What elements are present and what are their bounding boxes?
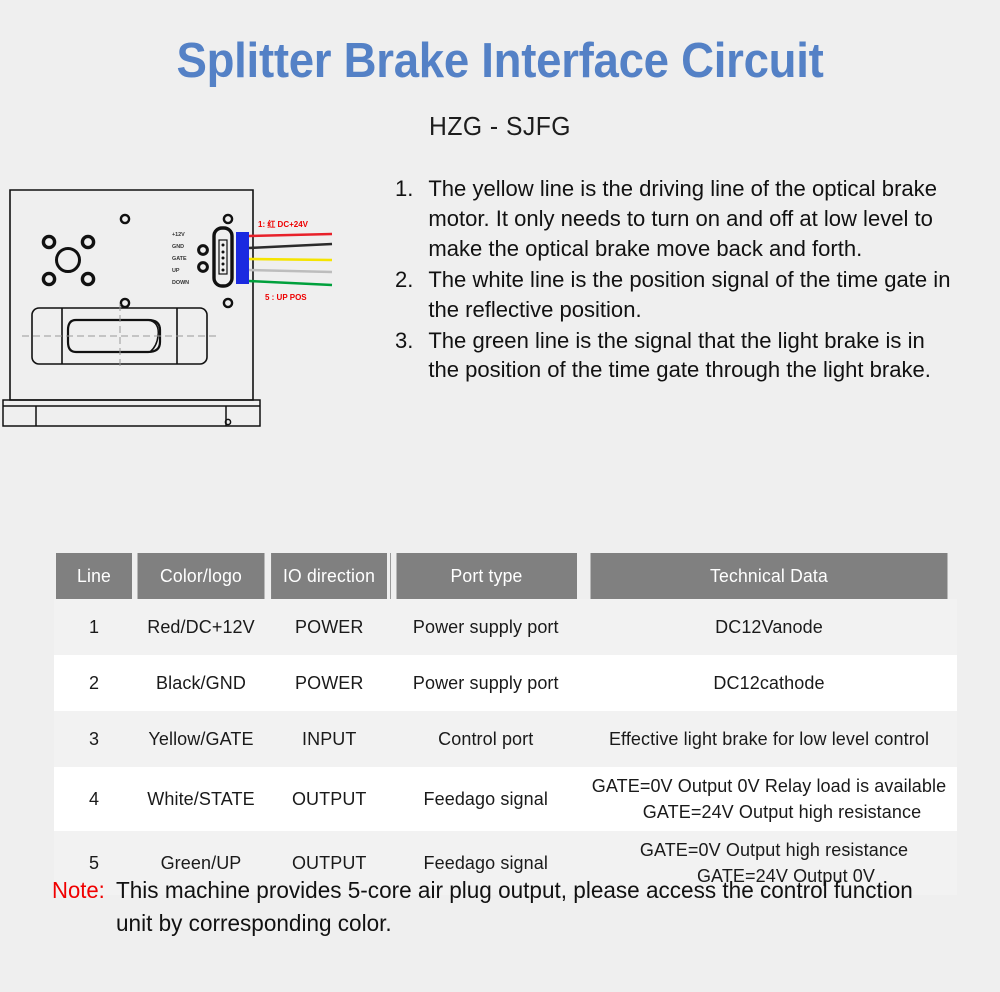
svg-text:DOWN: DOWN xyxy=(172,280,189,286)
svg-text:+12V: +12V xyxy=(172,232,185,238)
cell-io: POWER xyxy=(268,599,391,655)
cell-color: White/STATE xyxy=(134,767,268,831)
wire-red xyxy=(249,234,332,236)
machine-body-outline xyxy=(10,190,253,400)
cell-line: 1 xyxy=(54,599,134,655)
cell-io: OUTPUT xyxy=(268,767,391,831)
instruction-item: 2.The white line is the position signal … xyxy=(395,265,954,325)
cell-color: Black/GND xyxy=(134,655,268,711)
instruction-number: 2. xyxy=(395,265,424,295)
svg-text:UP: UP xyxy=(172,268,180,274)
wire-label-bottom: 5 : UP POS xyxy=(265,293,307,302)
instruction-item: 3.The green line is the signal that the … xyxy=(395,326,954,386)
machine-diagram: +12V GND GATE UP DOWN xyxy=(0,172,395,472)
wire-green xyxy=(249,281,332,285)
connector-pin-labels: +12V GND GATE UP DOWN xyxy=(172,232,189,286)
column-header-color: Color/logo xyxy=(137,553,264,599)
table-row: 4 White/STATE OUTPUT Feedago signal GATE… xyxy=(54,767,957,831)
wire-bundle xyxy=(249,234,332,285)
note-label: Note: xyxy=(52,874,113,907)
upper-section: +12V GND GATE UP DOWN xyxy=(0,142,1000,462)
cell-io: POWER xyxy=(268,655,391,711)
technical-line: DC12Vanode xyxy=(585,614,953,640)
cell-color: Yellow/GATE xyxy=(134,711,268,767)
instruction-text: The white line is the position signal of… xyxy=(428,267,950,322)
instruction-number: 3. xyxy=(395,326,424,356)
cell-port: Control port xyxy=(391,711,582,767)
technical-line: DC12cathode xyxy=(585,670,953,696)
instruction-text: The green line is the signal that the li… xyxy=(428,328,931,383)
cell-port: Power supply port xyxy=(391,655,582,711)
table-row: 2 Black/GND POWER Power supply port DC12… xyxy=(54,655,957,711)
column-header-line: Line xyxy=(56,553,132,599)
technical-line: Effective light brake for low level cont… xyxy=(585,726,953,752)
table-header: Line Color/logo IO direction Port type T… xyxy=(54,553,957,599)
note-block: Note: This machine provides 5-core air p… xyxy=(52,874,952,939)
cell-port: Feedago signal xyxy=(391,767,582,831)
instructions-list: 1.The yellow line is the driving line of… xyxy=(395,172,1000,386)
table-row: 3 Yellow/GATE INPUT Control port Effecti… xyxy=(54,711,957,767)
connector-plug-block xyxy=(236,232,249,284)
table-body: 1 Red/DC+12V POWER Power supply port DC1… xyxy=(54,599,957,895)
svg-text:GND: GND xyxy=(172,244,184,250)
cell-io: INPUT xyxy=(268,711,391,767)
technical-line: GATE=0V Output high resistance xyxy=(585,837,953,863)
machine-base xyxy=(3,400,260,426)
column-header-technical: Technical Data xyxy=(590,553,947,599)
cell-technical: GATE=0V Output 0V Relay load is availabl… xyxy=(581,767,957,831)
cell-port: Power supply port xyxy=(391,599,582,655)
pinout-table-container: Line Color/logo IO direction Port type T… xyxy=(54,553,946,895)
instruction-item: 1.The yellow line is the driving line of… xyxy=(395,174,954,264)
page-subtitle: HZG - SJFG xyxy=(25,89,975,142)
cell-technical: Effective light brake for low level cont… xyxy=(581,711,957,767)
column-header-port: Port type xyxy=(395,553,576,599)
cell-line: 4 xyxy=(54,767,134,831)
cell-technical: DC12Vanode xyxy=(581,599,957,655)
machine-drawing-svg: +12V GND GATE UP DOWN xyxy=(0,172,395,472)
centerlines xyxy=(22,304,216,368)
pinout-table: Line Color/logo IO direction Port type T… xyxy=(54,553,957,895)
mounting-holes-mid xyxy=(121,299,232,307)
instruction-number: 1. xyxy=(395,174,424,204)
instruction-text: The yellow line is the driving line of t… xyxy=(428,176,937,261)
connector-side-screws xyxy=(199,245,208,271)
bolt-circle-pattern xyxy=(43,236,93,284)
cell-line: 2 xyxy=(54,655,134,711)
table-header-row: Line Color/logo IO direction Port type T… xyxy=(54,553,957,599)
technical-line: GATE=24V Output high resistance xyxy=(585,799,953,825)
cell-technical: DC12cathode xyxy=(581,655,957,711)
cell-color: Red/DC+12V xyxy=(134,599,268,655)
svg-text:GATE: GATE xyxy=(172,256,187,262)
technical-line: GATE=0V Output 0V Relay load is availabl… xyxy=(585,773,953,799)
cell-line: 3 xyxy=(54,711,134,767)
wire-white xyxy=(249,270,332,272)
table-row: 1 Red/DC+12V POWER Power supply port DC1… xyxy=(54,599,957,655)
wire-label-top: 1: 红 DC+24V xyxy=(258,219,309,229)
connector-housing xyxy=(214,228,232,286)
page-title: Splitter Brake Interface Circuit xyxy=(35,0,965,89)
column-header-io: IO direction xyxy=(271,553,387,599)
note-text: This machine provides 5-core air plug ou… xyxy=(116,874,935,939)
wire-black xyxy=(249,244,332,248)
mounting-holes-top xyxy=(121,215,232,223)
wire-yellow xyxy=(249,259,332,260)
